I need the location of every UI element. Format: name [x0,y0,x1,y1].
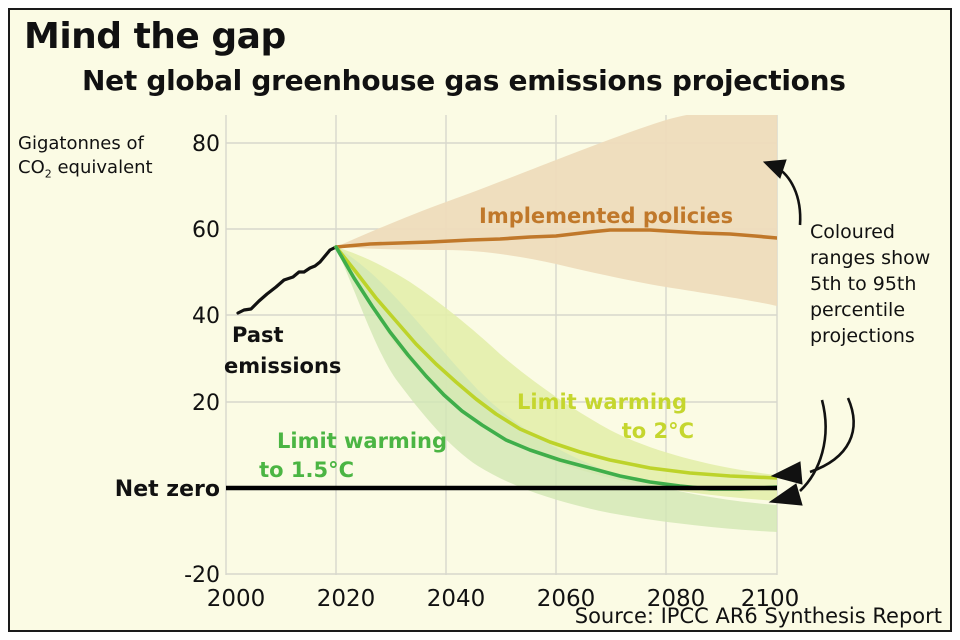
label-limit-2c-line2: to 2°C [622,419,694,443]
label-limit-15c-line2: to 1.5°C [259,458,354,482]
annotation-line-1: Coloured [810,221,895,243]
xtick-2080: 2080 [647,586,706,612]
label-implemented-policies: Implemented policies [479,204,733,228]
ytick-minus20: -20 [184,563,220,588]
label-past-emissions-line2: emissions [224,354,341,378]
label-past-emissions-line1: Past [232,323,284,347]
label-limit-2c-line1: Limit warming [517,390,687,414]
ytick-60: 60 [192,218,220,243]
ytick-20: 20 [192,391,220,416]
range-annotation: Coloured ranges show 5th to 95th percent… [810,221,930,347]
ytick-80: 80 [192,132,220,157]
xtick-2020: 2020 [317,586,376,612]
annotation-line-2: ranges show [810,247,930,269]
xtick-2040: 2040 [427,586,486,612]
xtick-2060: 2060 [537,586,596,612]
xtick-2100: 2100 [741,586,800,612]
chart-figure: Mind the gap Net global greenhouse gas e… [8,8,952,632]
annotation-line-3: 5th to 95th [810,273,916,295]
annotation-line-4: percentile [810,299,905,321]
annotation-line-5: projections [810,325,915,347]
label-limit-15c-line1: Limit warming [277,429,447,453]
ytick-40: 40 [192,304,220,329]
arrow-curve-mid [810,398,854,472]
ytick-net-zero: Net zero [115,477,220,502]
arrow-curve-bottom [800,400,826,491]
past-emissions-line [238,247,336,313]
xtick-2000: 2000 [207,586,266,612]
chart-svg: 80 60 40 20 Net zero -20 2000 2020 2040 … [10,10,952,632]
